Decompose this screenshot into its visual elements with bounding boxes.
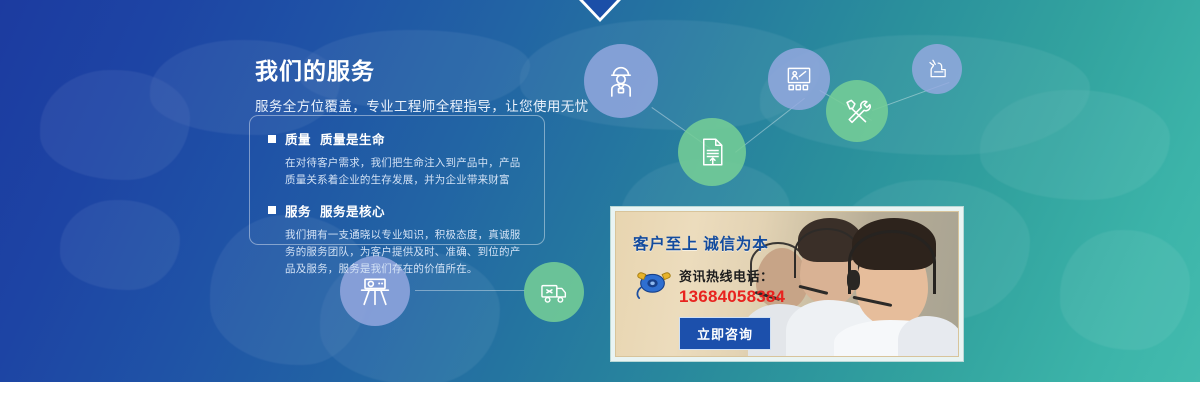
connector-line bbox=[415, 290, 525, 291]
handshake-icon bbox=[923, 55, 951, 83]
feature-body: 在对待客户需求，我们把生命注入到产品中，产品质量关系着企业的生存发展，并为企业带… bbox=[268, 155, 528, 190]
training-icon bbox=[782, 62, 816, 96]
document-icon bbox=[694, 134, 730, 170]
service-flow-diagram bbox=[0, 0, 1200, 382]
page-title: 我们的服务 bbox=[255, 58, 555, 86]
feature-heading: 质量 质量是生命 bbox=[268, 129, 528, 148]
service-banner: 我们的服务 服务全方位覆盖，专业工程师全程指导，让您使用无忧 质量 质量是生命 … bbox=[0, 0, 1200, 382]
tools-icon bbox=[840, 94, 874, 128]
node-handover[interactable] bbox=[912, 44, 962, 94]
hotline-row: 资讯热线电话： 13684058384 bbox=[633, 266, 813, 307]
card-slogan: 客户至上 诚信为本 bbox=[633, 232, 813, 254]
service-copy-block: 我们的服务 服务全方位覆盖，专业工程师全程指导，让您使用无忧 bbox=[255, 58, 555, 115]
features-panel: 质量 质量是生命 在对待客户需求，我们把生命注入到产品中，产品质量关系着企业的生… bbox=[249, 115, 545, 245]
node-tools[interactable] bbox=[826, 80, 888, 142]
hotline-label: 资讯热线电话： bbox=[679, 266, 785, 285]
feature-title: 服务是核心 bbox=[320, 201, 385, 220]
contact-copy: 客户至上 诚信为本 资讯热线电话： 13684058384 bbox=[633, 232, 813, 350]
node-engineer[interactable] bbox=[584, 44, 658, 118]
bullet-square-icon bbox=[268, 135, 276, 143]
node-document[interactable] bbox=[678, 118, 746, 186]
hotline-number: 13684058384 bbox=[679, 287, 785, 307]
node-training[interactable] bbox=[768, 48, 830, 110]
feature-item-quality: 质量 质量是生命 在对待客户需求，我们把生命注入到产品中，产品质量关系着企业的生… bbox=[268, 129, 528, 190]
delivery-truck-icon bbox=[537, 275, 571, 309]
feature-body: 我们拥有一支通晓以专业知识，积极态度，真诚服务的服务团队，为客户提供及时、准确、… bbox=[268, 227, 528, 279]
feature-tag: 质量 bbox=[285, 129, 311, 148]
node-delivery[interactable] bbox=[524, 262, 584, 322]
bullet-square-icon bbox=[268, 206, 276, 214]
contact-card-inner: 客户至上 诚信为本 资讯热线电话： 13684058384 bbox=[615, 211, 959, 357]
engineer-icon bbox=[601, 61, 641, 101]
feature-title: 质量是生命 bbox=[320, 129, 385, 148]
consult-now-button[interactable]: 立即咨询 bbox=[679, 317, 771, 350]
feature-tag: 服务 bbox=[285, 201, 311, 220]
contact-card: 客户至上 诚信为本 资讯热线电话： 13684058384 bbox=[610, 206, 964, 362]
feature-item-service: 服务 服务是核心 我们拥有一支通晓以专业知识，积极态度，真诚服务的服务团队，为客… bbox=[268, 201, 528, 279]
page-subtitle: 服务全方位覆盖，专业工程师全程指导，让您使用无忧 bbox=[255, 95, 555, 115]
feature-heading: 服务 服务是核心 bbox=[268, 201, 528, 220]
telephone-icon bbox=[633, 270, 675, 304]
